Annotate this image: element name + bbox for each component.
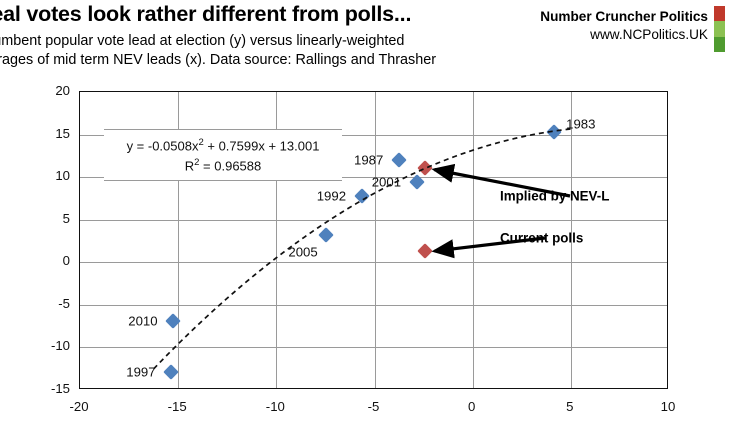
eq-suffix: + 0.7599x + 13.001 <box>204 138 320 153</box>
annotation-label: Current polls <box>500 231 583 246</box>
data-point-label: 2001 <box>372 175 401 190</box>
data-point-label: 1987 <box>354 152 383 167</box>
annotation-label: Implied by NEV-L <box>500 189 609 204</box>
x-axis-tick-label: 5 <box>540 399 600 414</box>
eq-prefix: y = -0.0508x <box>127 138 199 153</box>
y-axis-tick-label: 20 <box>8 83 70 98</box>
data-point-label: 1983 <box>566 116 595 131</box>
y-axis-tick-label: -5 <box>8 296 70 311</box>
x-axis-tick-label: -15 <box>147 399 207 414</box>
chart-screenshot: Real votes look rather different from po… <box>0 0 730 430</box>
x-axis-tick-label: -5 <box>344 399 404 414</box>
trendline-equation: y = -0.0508x2 + 0.7599x + 13.001 <box>106 134 340 154</box>
y-axis-tick-label: 15 <box>8 126 70 141</box>
data-point-label: 2005 <box>288 244 317 259</box>
y-axis-tick-label: 10 <box>8 168 70 183</box>
y-axis-tick-label: 0 <box>8 253 70 268</box>
x-axis-tick-label: 10 <box>638 399 698 414</box>
trendline-r2: R2 = 0.96588 <box>106 154 340 174</box>
x-axis-tick-label: -10 <box>245 399 305 414</box>
r2-prefix: R <box>185 159 194 174</box>
trendline-equation-box: y = -0.0508x2 + 0.7599x + 13.001 R2 = 0.… <box>104 129 342 181</box>
data-point-label: 1992 <box>317 188 346 203</box>
x-axis-tick-label: -20 <box>49 399 109 414</box>
y-axis-tick-labels: -15-10-505101520 <box>0 0 730 430</box>
chart-plot-wrapper: -15-10-505101520 -20-15-10-50510 1983198… <box>0 0 730 430</box>
x-axis-tick-label: 0 <box>442 399 502 414</box>
r2-suffix: = 0.96588 <box>199 159 261 174</box>
data-point-label: 2010 <box>128 313 157 328</box>
y-axis-tick-label: -10 <box>8 338 70 353</box>
data-point-label: 1997 <box>126 364 155 379</box>
y-axis-tick-label: 5 <box>8 211 70 226</box>
y-axis-tick-label: -15 <box>8 381 70 396</box>
